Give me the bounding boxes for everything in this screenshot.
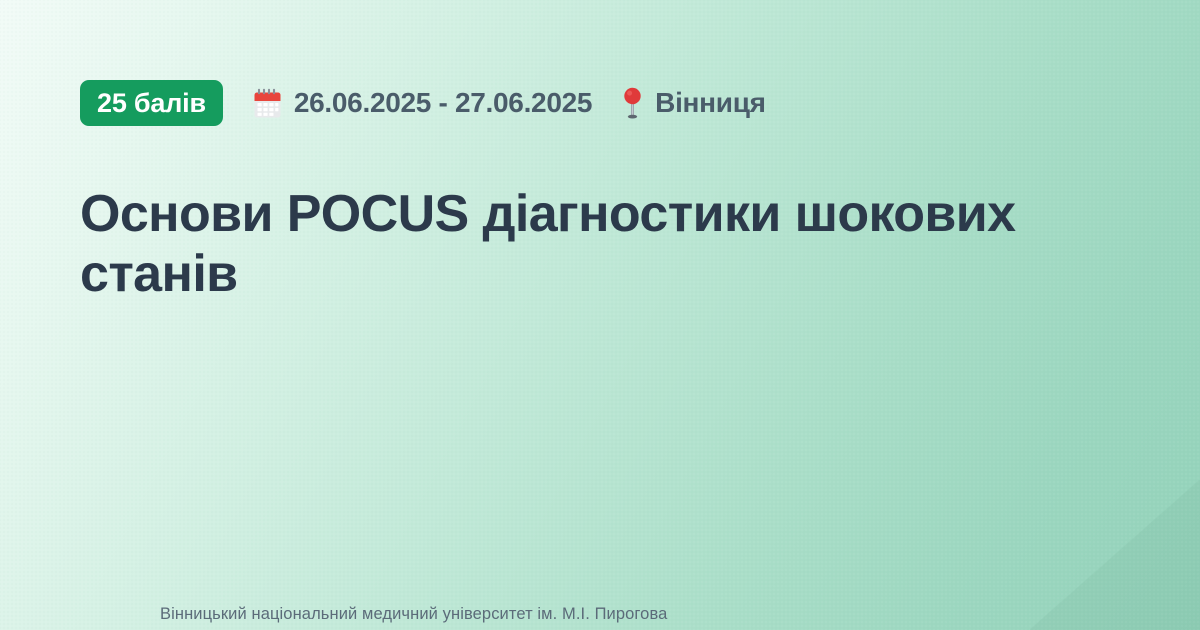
event-card: 25 балів <box>0 0 1200 630</box>
event-dates-label: 26.06.2025 - 27.06.2025 <box>294 87 592 119</box>
meta-row: 25 балів <box>80 80 1120 126</box>
organizer-label: Вінницький національний медичний універс… <box>160 605 667 624</box>
event-dates: 26.06.2025 - 27.06.2025 <box>253 87 592 119</box>
event-location: Вінниця <box>622 87 766 120</box>
points-badge: 25 балів <box>80 80 223 126</box>
card-content: 25 балів <box>80 80 1120 630</box>
event-location-label: Вінниця <box>655 87 766 119</box>
page-title: Основи POCUS діагностики шокових станів <box>80 126 1100 304</box>
round-pushpin-icon <box>622 87 643 120</box>
spiral-calendar-icon <box>253 88 282 119</box>
